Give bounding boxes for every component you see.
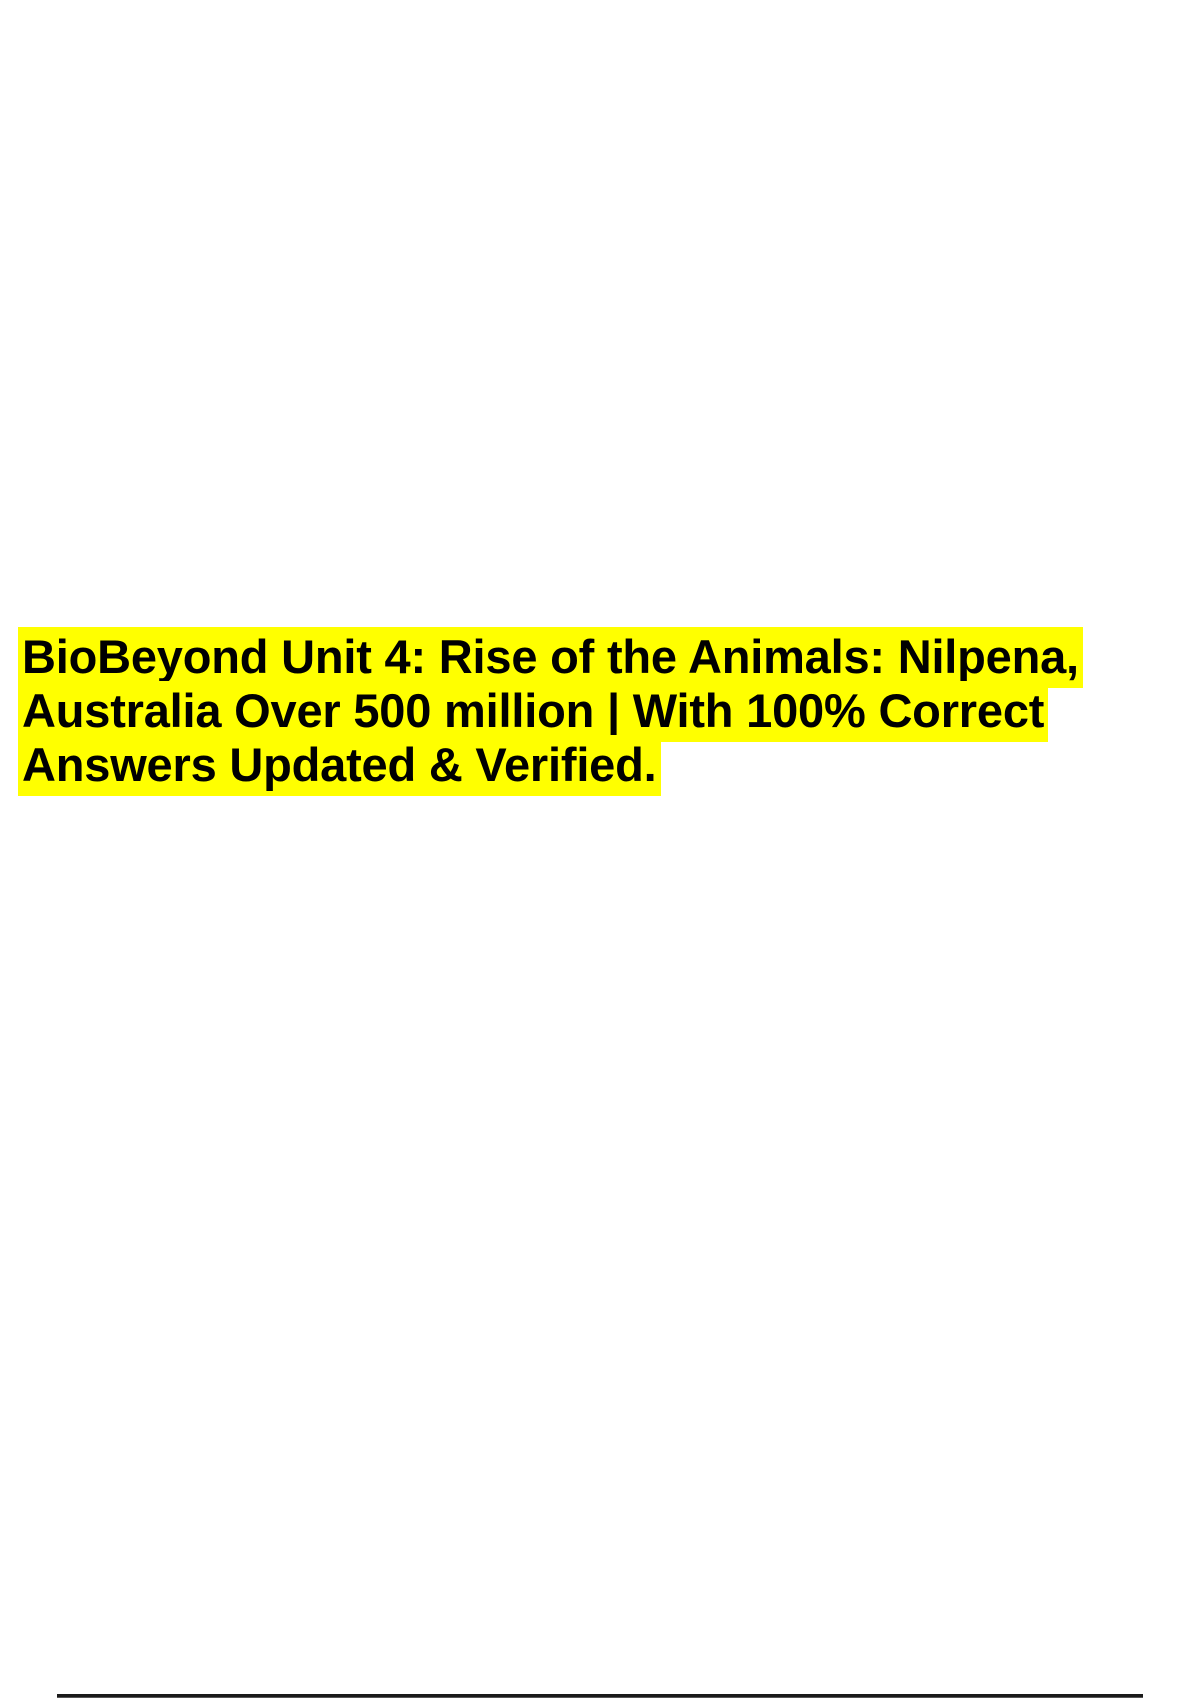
title-line-2-text: Australia Over 500 million | With 100% C…	[18, 681, 1048, 742]
document-page: BioBeyond Unit 4: Rise of the Animals: N…	[0, 0, 1200, 1700]
title-line-2: Australia Over 500 million | With 100% C…	[18, 684, 1200, 738]
footer-divider	[57, 1694, 1143, 1698]
highlighted-title: BioBeyond Unit 4: Rise of the Animals: N…	[18, 630, 1200, 792]
title-line-1: BioBeyond Unit 4: Rise of the Animals: N…	[18, 630, 1200, 684]
title-line-3: Answers Updated & Verified.	[18, 738, 1200, 792]
title-line-3-text: Answers Updated & Verified.	[18, 735, 661, 796]
title-line-1-text: BioBeyond Unit 4: Rise of the Animals: N…	[18, 627, 1083, 688]
